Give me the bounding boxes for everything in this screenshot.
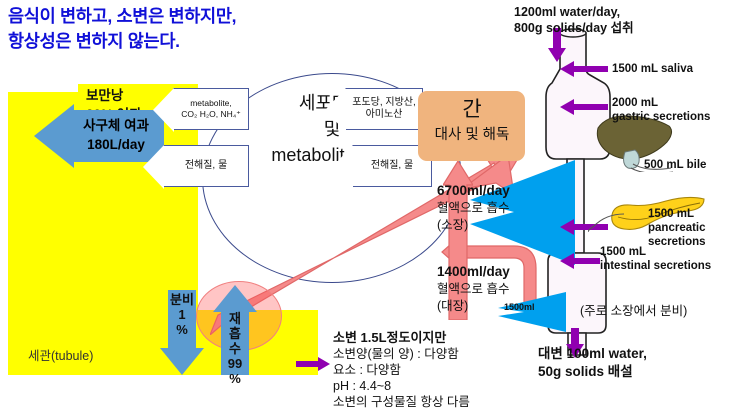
- secretion-label: 분비 1 %: [168, 292, 196, 337]
- secretion-arrow: 분비 1 %: [160, 290, 204, 375]
- urine-headline: 소변 1.5L정도이지만: [333, 330, 446, 345]
- liver-name: 간: [462, 98, 481, 121]
- small-intestine-absorption-label: 6700ml/day혈액으로 흡수 (소장): [437, 182, 537, 234]
- chevron-nutrient-text: 포도당, 지방산, 아미노산: [346, 89, 422, 129]
- saliva-label: 1500 mL saliva: [612, 62, 693, 76]
- liver-sub: 대사 및 해독: [435, 127, 510, 143]
- diagram-canvas: 음식이 변하고, 소변은 변하지만, 항상성은 변하지 않는다. 세관(tubu…: [0, 0, 743, 418]
- intestinal-secretions-label: 1500 mL intestinal secretions: [600, 245, 711, 273]
- intestinal-purple-arrow: [560, 253, 600, 269]
- li-sub: 혈액으로 흡수 (대장): [437, 282, 509, 313]
- chevron-metabolite-output: metabolite, CO₂ H₂O, NH₄⁺: [173, 88, 249, 130]
- colon-small-volume-label: 1500ml: [504, 302, 535, 312]
- liver-label: 간대사 및 해독: [420, 98, 524, 147]
- pancreatic-secretions-label: 1500 mL pancreatic secretions: [648, 207, 743, 249]
- urine-info-block: 소변 1.5L정도이지만소변양(물의 양) : 다양함 요소 : 다양함 pH …: [333, 330, 583, 410]
- gastric-secretions-label: 2000 mL gastric secretions: [612, 96, 710, 124]
- mainly-small-intestine-note: (주로 소장에서 분비): [580, 300, 687, 319]
- chevron-nutrient-input: 포도당, 지방산, 아미노산: [345, 88, 423, 130]
- pancreatic-duct: [588, 210, 624, 236]
- reabsorption-arrow: 재 흡 수 99 %: [213, 285, 257, 375]
- bile-label: 500 mL bile: [644, 158, 706, 172]
- urine-details: 소변양(물의 양) : 다양함 요소 : 다양함 pH : 4.4~8 소변의 …: [333, 347, 470, 409]
- tubule-label: 세관(tubule): [28, 345, 93, 364]
- urine-purple-arrow: [296, 357, 330, 371]
- page-title: 음식이 변하고, 소변은 변하지만, 항상성은 변하지 않는다.: [8, 4, 428, 54]
- saliva-purple-arrow: [560, 61, 608, 77]
- chevron-metabolite-text: metabolite, CO₂ H₂O, NH₄⁺: [174, 89, 248, 129]
- intake-label: 1200ml water/day, 800g solids/day 섭취: [514, 4, 634, 36]
- si-volume: 6700ml/day: [437, 183, 510, 198]
- li-volume: 1400ml/day: [437, 264, 510, 279]
- si-sub: 혈액으로 흡수 (소장): [437, 201, 509, 232]
- reabsorption-label: 재 흡 수 99 %: [221, 311, 249, 386]
